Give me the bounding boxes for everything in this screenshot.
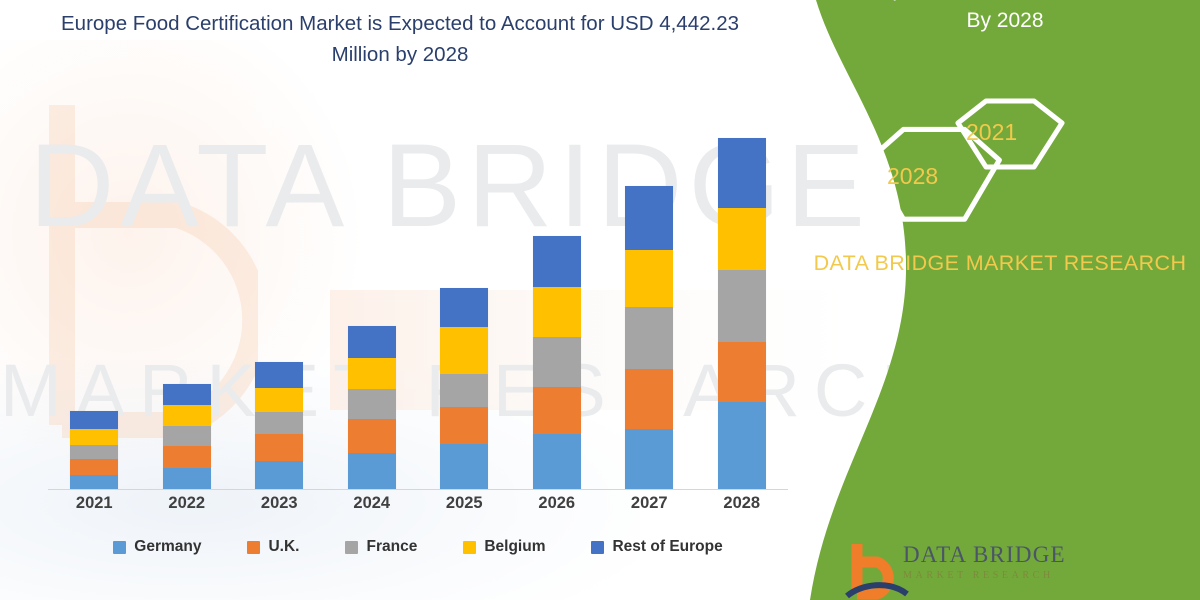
stacked-bar: [163, 384, 211, 489]
bar-segment-france: [348, 389, 396, 419]
bar-segment-france: [70, 445, 118, 459]
bar-segment-u-k: [718, 342, 766, 402]
infographic-canvas: DATA BRIDGE MARKET RESEARCH Europe Food …: [0, 0, 1200, 600]
bar-column: [233, 100, 326, 489]
chart-legend: GermanyU.K.FranceBelgiumRest of Europe: [48, 538, 788, 556]
bar-segment-rest-of-europe: [70, 411, 118, 429]
x-axis-label-2022: 2022: [141, 494, 234, 513]
bar-segment-germany: [440, 444, 488, 489]
bar-column: [603, 100, 696, 489]
stacked-bar: [533, 236, 581, 489]
bar-segment-france: [718, 270, 766, 343]
hexagon-outline-icon: [830, 95, 1160, 235]
logo-tagline: MARKET RESEARCH: [903, 570, 1054, 581]
bar-segment-rest-of-europe: [255, 362, 303, 388]
bar-segment-u-k: [625, 369, 673, 429]
bar-segment-belgium: [625, 250, 673, 308]
x-axis-label-2027: 2027: [603, 494, 696, 513]
hex-label-2028: 2028: [887, 163, 938, 190]
bar-segment-belgium: [348, 358, 396, 389]
legend-swatch-france: [345, 541, 358, 554]
bar-segment-rest-of-europe: [440, 288, 488, 328]
x-axis-label-2025: 2025: [418, 494, 511, 513]
legend-item-belgium[interactable]: Belgium: [463, 538, 545, 556]
bar-segment-rest-of-europe: [348, 326, 396, 358]
chart-bars: [48, 100, 788, 489]
bar-segment-belgium: [718, 208, 766, 270]
bar-column: [48, 100, 141, 489]
legend-label-u-k: U.K.: [268, 538, 299, 556]
bar-segment-france: [533, 337, 581, 387]
legend-item-u-k[interactable]: U.K.: [247, 538, 299, 556]
bar-segment-germany: [348, 453, 396, 489]
bar-column: [326, 100, 419, 489]
bar-segment-belgium: [533, 287, 581, 338]
bar-segment-u-k: [348, 419, 396, 453]
bar-column: [141, 100, 234, 489]
bar-segment-germany: [625, 429, 673, 489]
legend-item-france[interactable]: France: [345, 538, 417, 556]
bar-segment-germany: [533, 434, 581, 489]
bar-segment-u-k: [163, 446, 211, 468]
stacked-bar: [255, 362, 303, 489]
bar-segment-germany: [718, 402, 766, 489]
legend-item-germany[interactable]: Germany: [113, 538, 201, 556]
legend-swatch-rest-of-europe: [591, 541, 604, 554]
x-axis-label-2026: 2026: [511, 494, 604, 513]
bar-segment-rest-of-europe: [533, 236, 581, 287]
hex-label-2021: 2021: [966, 119, 1017, 146]
hexagon-badges: 2028 2021: [830, 95, 1160, 235]
bar-segment-france: [255, 412, 303, 434]
bar-segment-belgium: [440, 327, 488, 374]
bar-segment-rest-of-europe: [625, 186, 673, 250]
legend-label-germany: Germany: [134, 538, 201, 556]
bar-segment-u-k: [255, 434, 303, 461]
stacked-bar: [718, 138, 766, 489]
stacked-bar: [348, 326, 396, 489]
stacked-bar: [440, 288, 488, 489]
bar-segment-france: [163, 426, 211, 446]
x-axis-label-2021: 2021: [48, 494, 141, 513]
bar-segment-belgium: [163, 405, 211, 426]
legend-label-france: France: [366, 538, 417, 556]
x-axis-label-2023: 2023: [233, 494, 326, 513]
bar-column: [696, 100, 789, 489]
x-axis-label-2028: 2028: [696, 494, 789, 513]
stacked-bar: [625, 186, 673, 489]
legend-label-belgium: Belgium: [484, 538, 545, 556]
bar-segment-germany: [163, 468, 211, 489]
bar-segment-germany: [70, 475, 118, 489]
bar-column: [418, 100, 511, 489]
legend-swatch-germany: [113, 541, 126, 554]
legend-swatch-u-k: [247, 541, 260, 554]
bar-segment-u-k: [70, 459, 118, 475]
panel-title: Europe Food Certification Market, By 202…: [840, 0, 1170, 36]
bar-segment-france: [625, 307, 673, 369]
brand-logo: DATA BRIDGE MARKET RESEARCH: [845, 540, 1085, 600]
bar-segment-france: [440, 374, 488, 407]
right-green-panel: Europe Food Certification Market, By 202…: [780, 0, 1200, 600]
bar-segment-u-k: [533, 387, 581, 434]
bar-segment-belgium: [70, 429, 118, 445]
stacked-bar: [70, 411, 118, 489]
panel-brand-name: DATA BRIDGE MARKET RESEARCH: [805, 248, 1195, 278]
logo-wordmark: DATA BRIDGE: [903, 542, 1066, 568]
page-title: Europe Food Certification Market is Expe…: [60, 8, 740, 70]
stacked-bar-chart: [48, 100, 788, 490]
legend-swatch-belgium: [463, 541, 476, 554]
x-axis-labels: 20212022202320242025202620272028: [48, 494, 788, 513]
bar-segment-rest-of-europe: [718, 138, 766, 208]
bar-segment-belgium: [255, 388, 303, 412]
legend-item-rest-of-europe[interactable]: Rest of Europe: [591, 538, 722, 556]
bar-segment-rest-of-europe: [163, 384, 211, 405]
bar-column: [511, 100, 604, 489]
bar-segment-u-k: [440, 407, 488, 444]
x-axis-label-2024: 2024: [326, 494, 419, 513]
legend-label-rest-of-europe: Rest of Europe: [612, 538, 722, 556]
x-axis-line: [48, 489, 788, 490]
bar-segment-germany: [255, 461, 303, 489]
